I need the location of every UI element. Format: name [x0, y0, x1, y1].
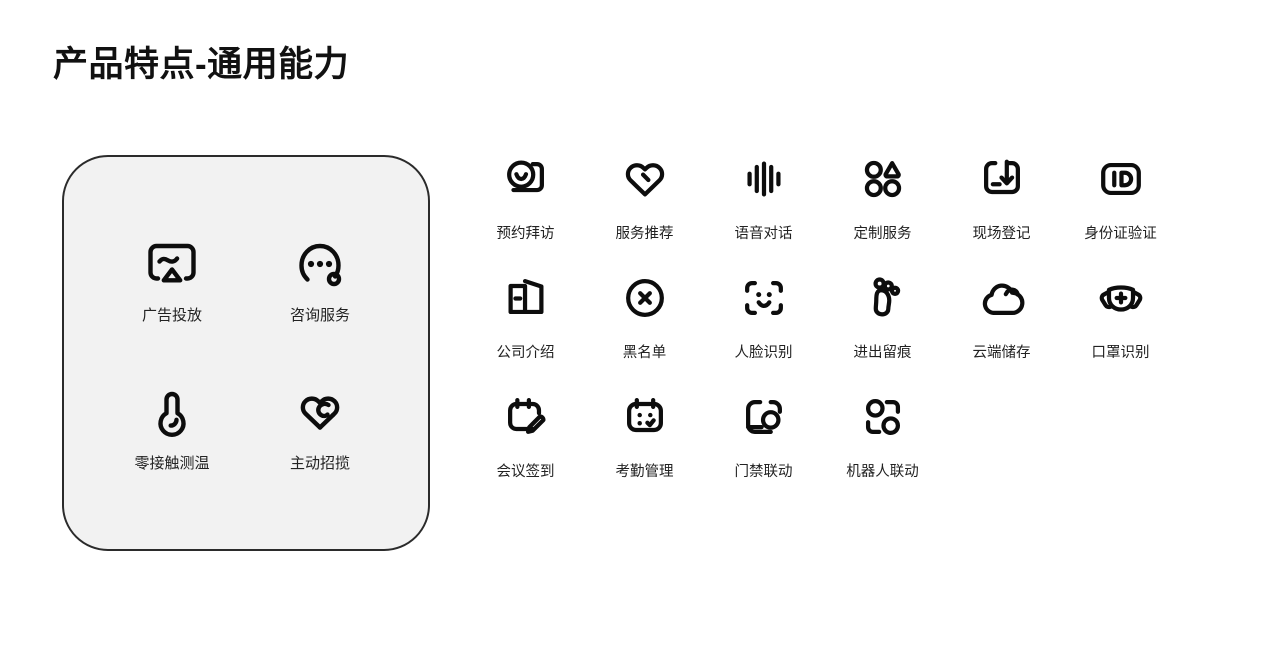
capability-item-entry-exit-trace[interactable]: 进出留痕: [823, 271, 942, 363]
access-control-icon: [737, 390, 791, 444]
feature-card-item-active-greeting[interactable]: 主动招揽: [255, 384, 385, 474]
capability-item-custom-service[interactable]: 定制服务: [823, 152, 942, 244]
capability-item-label: 会议签到: [497, 462, 555, 482]
capability-item-service-recommend[interactable]: 服务推荐: [585, 152, 704, 244]
capability-item-appointment-visit[interactable]: 预约拜访: [466, 152, 585, 244]
blacklist-cross-icon: [618, 271, 672, 325]
robot-link-icon: [856, 390, 910, 444]
capability-item-face-recognition[interactable]: 人脸识别: [704, 271, 823, 363]
capability-item-label: 黑名单: [623, 343, 667, 363]
capability-item-mask-detection[interactable]: 口罩识别: [1061, 271, 1180, 363]
capability-item-label: 口罩识别: [1092, 343, 1150, 363]
capability-item-label: 身份证验证: [1084, 224, 1157, 244]
capability-item-label: 语音对话: [735, 224, 793, 244]
capability-item-id-verification[interactable]: 身份证验证: [1061, 152, 1180, 244]
capability-item-label: 门禁联动: [735, 462, 793, 482]
capability-item-label: 服务推荐: [616, 224, 674, 244]
capability-row: 预约拜访 服务推荐: [466, 152, 1246, 244]
capability-item-label: 定制服务: [854, 224, 912, 244]
capability-item-robot-link[interactable]: 机器人联动: [823, 390, 942, 482]
ad-display-icon: [144, 236, 200, 292]
capability-item-label: 进出留痕: [854, 343, 912, 363]
feature-card-item-label: 咨询服务: [290, 306, 350, 326]
capability-item-label: 云端储存: [973, 343, 1031, 363]
capability-item-company-intro[interactable]: 公司介绍: [466, 271, 585, 363]
feature-card-item-label: 零接触测温: [134, 454, 209, 474]
capability-item-label: 人脸识别: [735, 343, 793, 363]
capability-item-label: 预约拜访: [497, 224, 555, 244]
capability-item-blacklist[interactable]: 黑名单: [585, 271, 704, 363]
feature-card-item-ad-display[interactable]: 广告投放: [107, 236, 237, 326]
custom-shapes-icon: [856, 152, 910, 206]
feature-card-item-contactless-temp[interactable]: 零接触测温: [107, 384, 237, 474]
headset-chat-icon: [292, 236, 348, 292]
face-recognition-icon: [737, 271, 791, 325]
capability-item-access-control[interactable]: 门禁联动: [704, 390, 823, 482]
capability-item-label: 现场登记: [973, 224, 1031, 244]
capability-item-label: 机器人联动: [846, 462, 919, 482]
capability-grid: 预约拜访 服务推荐: [466, 152, 1246, 509]
capability-item-voice-dialog[interactable]: 语音对话: [704, 152, 823, 244]
capability-item-attendance[interactable]: 考勤管理: [585, 390, 704, 482]
feature-card-grid: 广告投放 咨询服务: [64, 157, 428, 549]
capability-item-label: 考勤管理: [616, 462, 674, 482]
feature-card: 广告投放 咨询服务: [62, 155, 430, 551]
capability-item-onsite-register[interactable]: 现场登记: [942, 152, 1061, 244]
company-building-icon: [499, 271, 553, 325]
capability-row: 会议签到 考勤管理: [466, 390, 1246, 482]
onsite-register-icon: [975, 152, 1029, 206]
voice-wave-icon: [737, 152, 791, 206]
appointment-face-icon: [499, 152, 553, 206]
id-card-icon: [1094, 152, 1148, 206]
attendance-calendar-icon: [618, 390, 672, 444]
capability-item-label: 公司介绍: [497, 343, 555, 363]
capability-item-cloud-storage[interactable]: 云端储存: [942, 271, 1061, 363]
feature-card-item-consulting[interactable]: 咨询服务: [255, 236, 385, 326]
thermometer-icon: [144, 384, 200, 440]
cloud-storage-icon: [975, 271, 1029, 325]
feature-card-item-label: 广告投放: [142, 306, 202, 326]
linked-hearts-icon: [292, 384, 348, 440]
feature-card-item-label: 主动招揽: [290, 454, 350, 474]
footprint-icon: [856, 271, 910, 325]
capability-item-meeting-signin[interactable]: 会议签到: [466, 390, 585, 482]
slide-canvas: 产品特点-通用能力 广告投放: [0, 0, 1280, 658]
face-mask-icon: [1094, 271, 1148, 325]
capability-row: 公司介绍 黑名单: [466, 271, 1246, 363]
heart-recommend-icon: [618, 152, 672, 206]
meeting-signin-icon: [499, 390, 553, 444]
page-title: 产品特点-通用能力: [53, 42, 349, 88]
